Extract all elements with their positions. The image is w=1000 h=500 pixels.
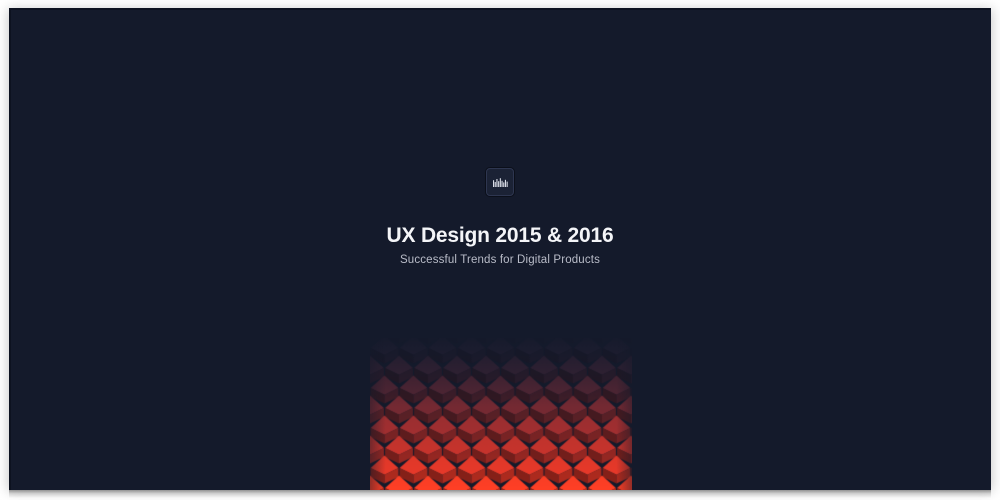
isometric-cube-canvas [370, 338, 632, 490]
presentation-slide: UX Design 2015 & 2016 Successful Trends … [9, 8, 991, 490]
slide-title: UX Design 2015 & 2016 [9, 224, 991, 248]
slide-subtitle: Successful Trends for Digital Products [9, 254, 991, 268]
logo-mark-icon [493, 178, 508, 187]
slide-hero-block: UX Design 2015 & 2016 Successful Trends … [9, 168, 991, 268]
logo-badge-icon[interactable] [486, 168, 514, 196]
isometric-cube-pattern [370, 338, 632, 490]
slide-bottom-shadow [9, 490, 991, 498]
presentation-page: UX Design 2015 & 2016 Successful Trends … [0, 0, 1000, 500]
